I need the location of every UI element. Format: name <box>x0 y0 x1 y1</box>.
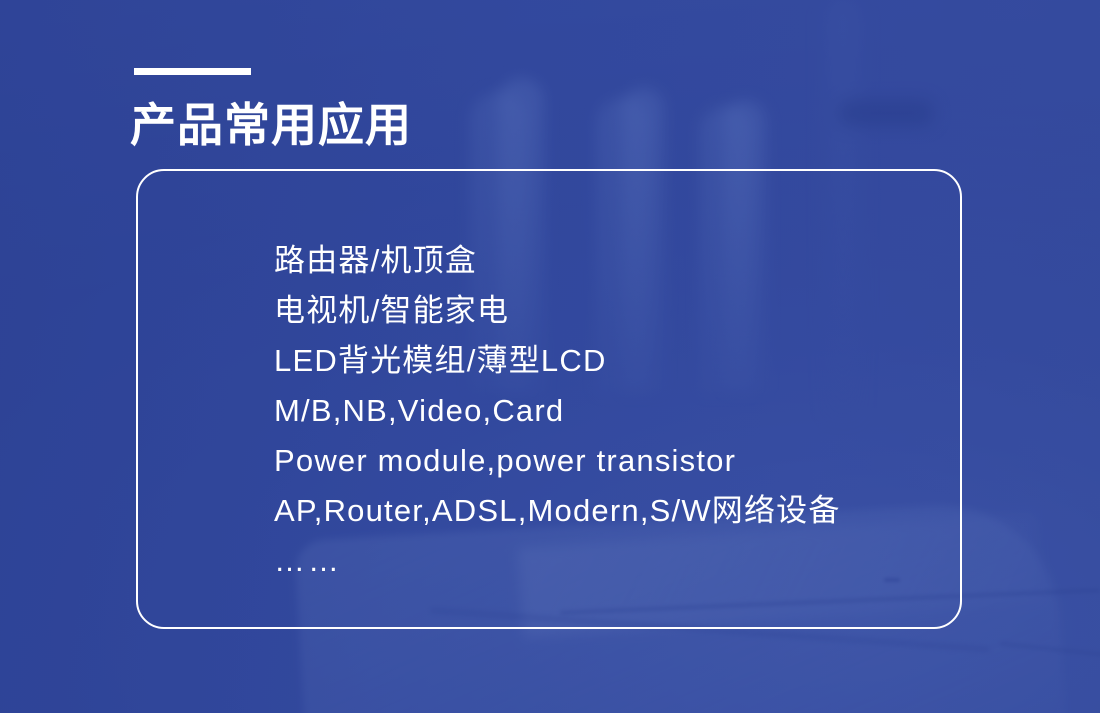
page-title: 产品常用应用 <box>130 97 412 153</box>
applications-list: 路由器/机顶盒 电视机/智能家电 LED背光模组/薄型LCD M/B,NB,Vi… <box>274 236 841 586</box>
list-item-ellipsis: …… <box>274 536 841 586</box>
product-applications-banner: 产品常用应用 路由器/机顶盒 电视机/智能家电 LED背光模组/薄型LCD M/… <box>0 0 1100 713</box>
list-item: LED背光模组/薄型LCD <box>274 336 841 386</box>
list-item: Power module,power transistor <box>274 436 841 486</box>
list-item: 电视机/智能家电 <box>274 286 841 336</box>
list-item: 路由器/机顶盒 <box>274 236 841 286</box>
banner-content: 产品常用应用 路由器/机顶盒 电视机/智能家电 LED背光模组/薄型LCD M/… <box>0 0 1100 713</box>
title-accent-rule <box>134 68 251 75</box>
list-item: AP,Router,ADSL,Modern,S/W网络设备 <box>274 486 841 536</box>
list-item: M/B,NB,Video,Card <box>274 386 841 436</box>
